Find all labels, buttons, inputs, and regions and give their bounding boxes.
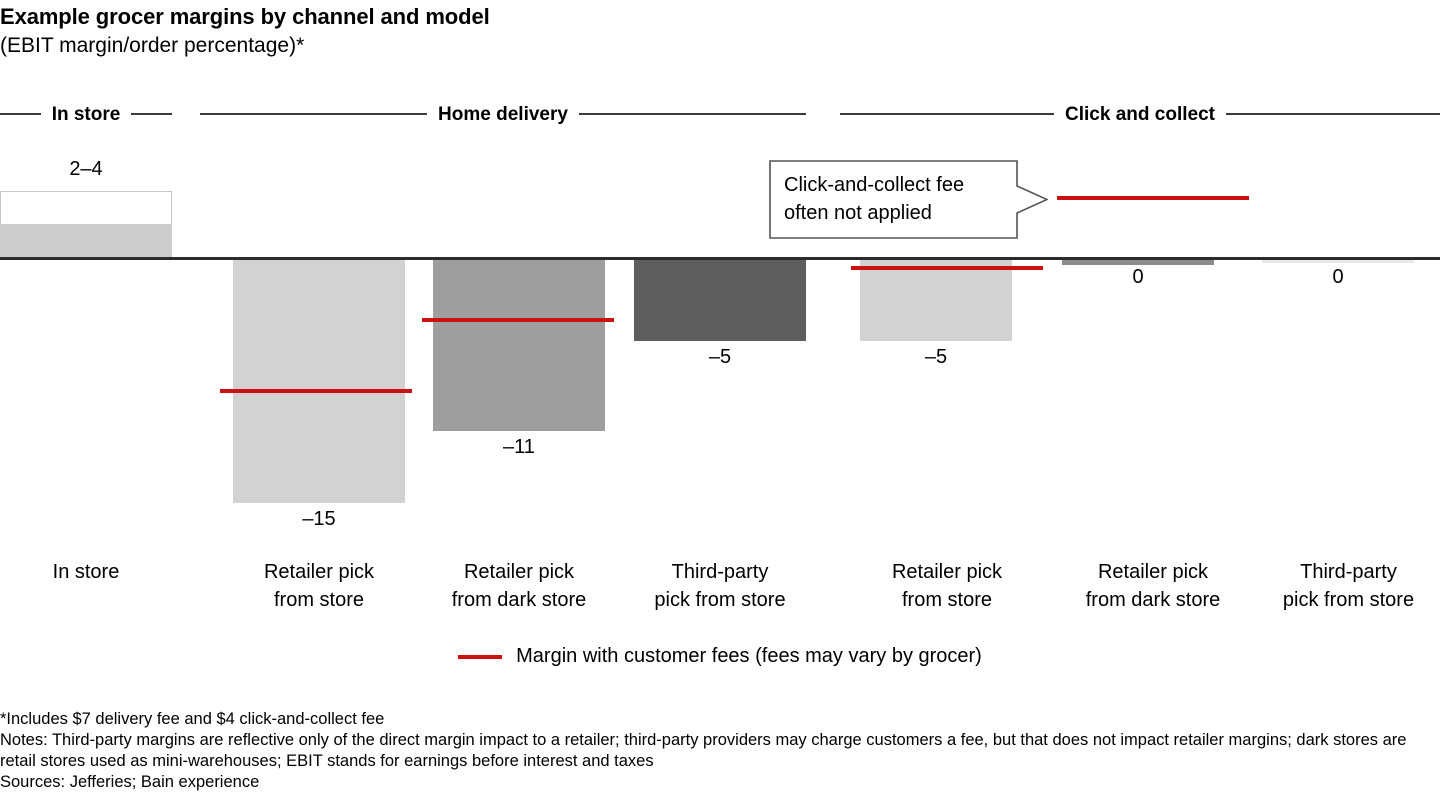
bar-2	[233, 260, 405, 503]
group-rule-left	[200, 113, 427, 115]
callout-box: Click-and-collect fee often not applied	[769, 160, 1048, 239]
fee-line-2	[422, 318, 614, 322]
fee-line-4	[1057, 196, 1249, 200]
group-header-2: Home delivery	[200, 100, 806, 128]
category-label-2: Retailer pickfrom store	[233, 558, 405, 614]
category-label-line: Retailer pick	[233, 558, 405, 586]
callout-text: Click-and-collect fee often not applied	[784, 171, 964, 227]
chart-legend: Margin with customer fees (fees may vary…	[0, 645, 1440, 668]
category-label-line: In store	[0, 558, 172, 586]
group-rule-left	[0, 113, 41, 115]
bar-3	[433, 260, 605, 431]
legend-swatch-margin-with-fees	[458, 655, 502, 659]
category-label-7: Third-partypick from store	[1257, 558, 1440, 614]
category-label-3: Retailer pickfrom dark store	[433, 558, 605, 614]
value-label-5: –5	[860, 346, 1012, 369]
category-label-line: from store	[851, 586, 1043, 614]
category-label-line: Third-party	[1257, 558, 1440, 586]
group-header-1: In store	[0, 100, 172, 128]
footnote-3: Sources: Jefferies; Bain experience	[0, 772, 1440, 793]
group-rule-right	[579, 113, 806, 115]
value-label-7: 0	[1262, 266, 1414, 289]
zero-axis-line	[0, 257, 1440, 260]
value-label-2: –15	[233, 508, 405, 531]
category-label-line: pick from store	[634, 586, 806, 614]
category-label-4: Third-partypick from store	[634, 558, 806, 614]
category-label-line: Retailer pick	[433, 558, 605, 586]
category-label-5: Retailer pickfrom store	[851, 558, 1043, 614]
value-label-4: –5	[634, 346, 806, 369]
group-rule-left	[840, 113, 1054, 115]
category-label-line: from dark store	[433, 586, 605, 614]
bar-range-top-1	[0, 191, 172, 224]
group-label: Click and collect	[1054, 105, 1226, 124]
group-label: In store	[41, 105, 132, 124]
bar-7	[1262, 260, 1414, 263]
footnote-1: *Includes $7 delivery fee and $4 click-a…	[0, 709, 1440, 730]
bar-6	[1062, 260, 1214, 265]
group-header-3: Click and collect	[840, 100, 1440, 128]
fee-line-3	[851, 266, 1043, 270]
group-rule-right	[1226, 113, 1440, 115]
bar-4	[634, 260, 806, 341]
chart-plot-area: 2–4–15–11–5–500	[0, 140, 1440, 540]
fee-line-1	[220, 389, 412, 393]
category-label-line: from dark store	[1057, 586, 1249, 614]
group-label: Home delivery	[427, 105, 579, 124]
page-title: Example grocer margins by channel and mo…	[0, 4, 490, 30]
category-label-line: from store	[233, 586, 405, 614]
footnote-2: Notes: Third-party margins are reflectiv…	[0, 730, 1440, 772]
category-label-1: In store	[0, 558, 172, 586]
value-label-3: –11	[433, 436, 605, 459]
page-subtitle: (EBIT margin/order percentage)*	[0, 34, 304, 58]
value-label-6: 0	[1062, 266, 1214, 289]
legend-label: Margin with customer fees (fees may vary…	[516, 645, 982, 668]
category-label-6: Retailer pickfrom dark store	[1057, 558, 1249, 614]
category-label-line: Retailer pick	[851, 558, 1043, 586]
bar-1	[0, 224, 172, 257]
bar-5	[860, 260, 1012, 341]
category-label-line: pick from store	[1257, 586, 1440, 614]
category-label-line: Retailer pick	[1057, 558, 1249, 586]
group-rule-right	[131, 113, 172, 115]
category-label-line: Third-party	[634, 558, 806, 586]
footnotes: *Includes $7 delivery fee and $4 click-a…	[0, 709, 1440, 793]
value-label-1: 2–4	[0, 158, 172, 181]
